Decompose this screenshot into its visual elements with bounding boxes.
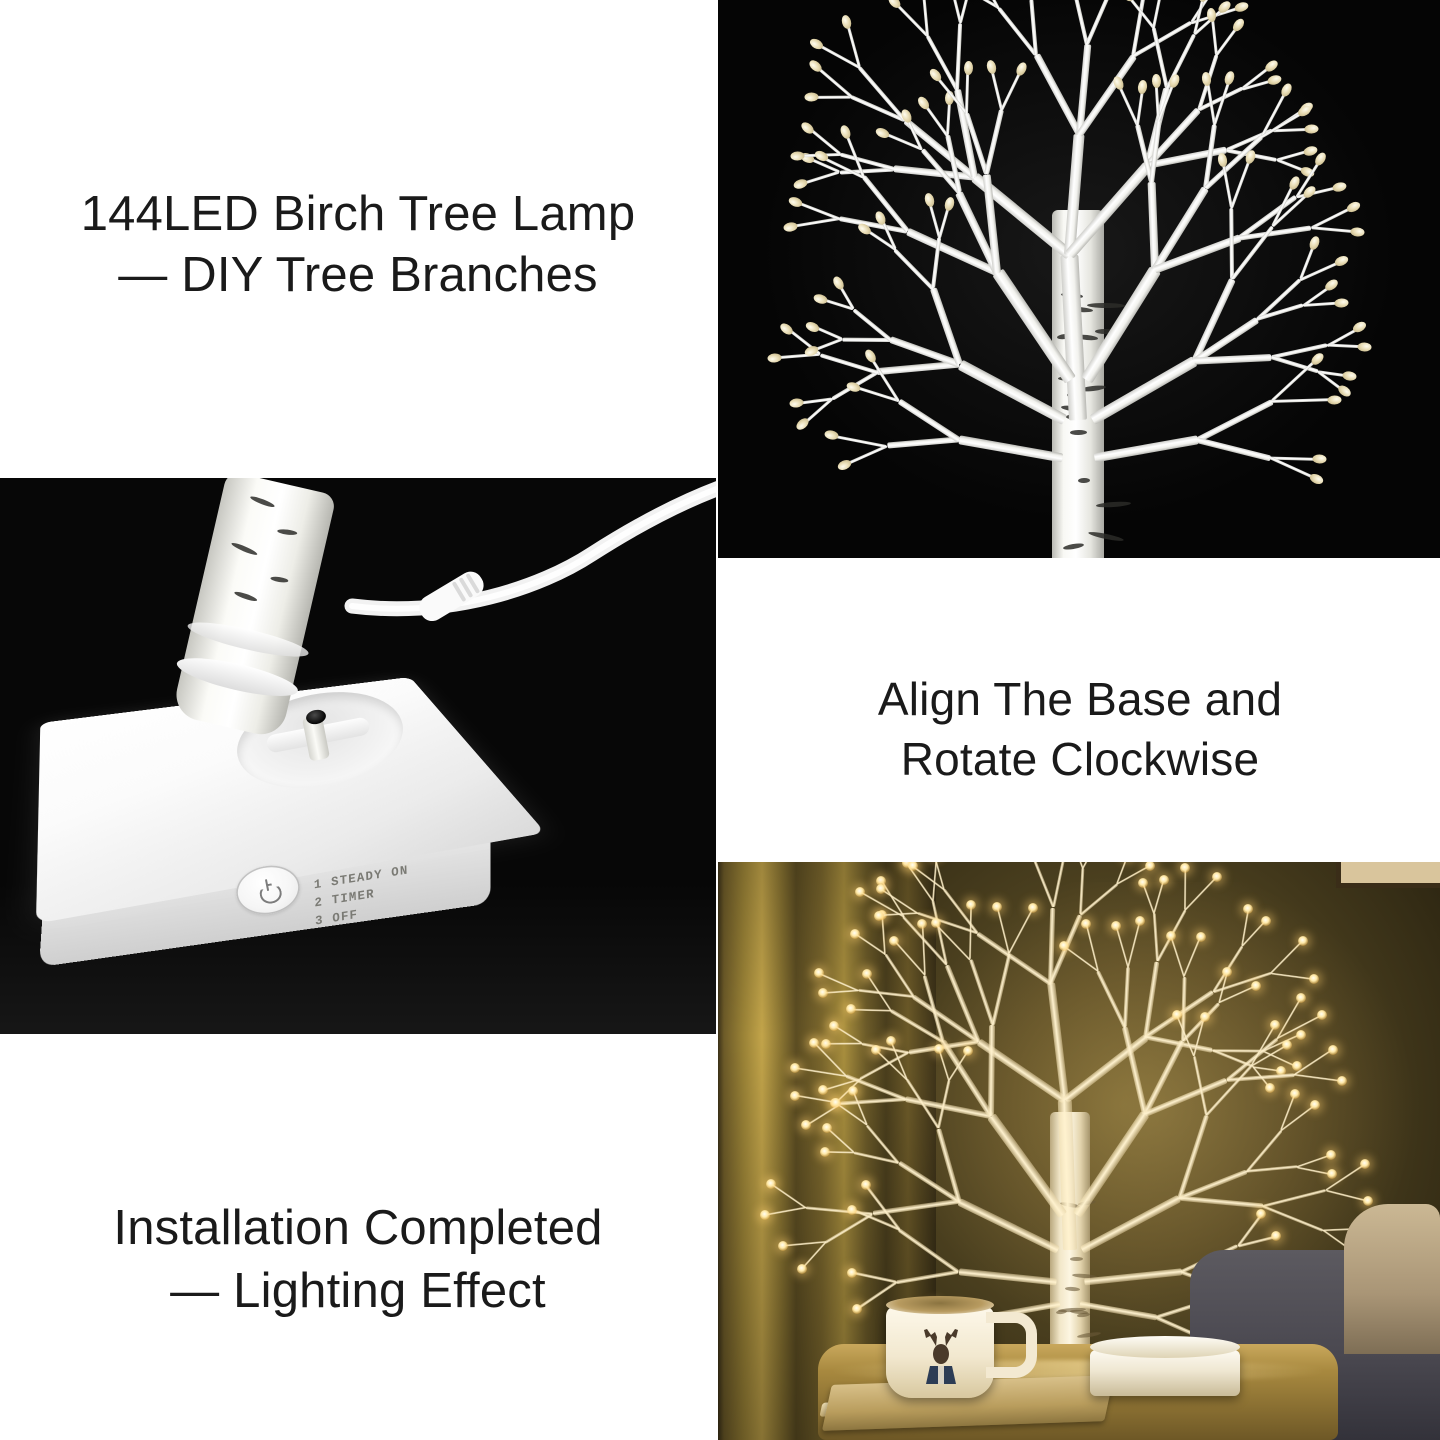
lit-led bbox=[1081, 919, 1091, 929]
led-bulb bbox=[1357, 342, 1371, 352]
trunk-collar-lower bbox=[174, 650, 301, 703]
caption-product-title-line1: 144LED Birch Tree Lamp bbox=[81, 184, 636, 245]
bark-mark bbox=[277, 528, 297, 535]
lit-led bbox=[1138, 878, 1148, 888]
lit-led bbox=[1337, 1076, 1347, 1086]
photo-room-scene bbox=[718, 862, 1440, 1440]
lit-led bbox=[814, 968, 824, 978]
caption-result-line2: — Lighting Effect bbox=[170, 1260, 546, 1323]
tree-twig bbox=[842, 337, 891, 342]
caption-result: Installation Completed — Lighting Effect bbox=[0, 1150, 716, 1370]
caption-assembly-step-line1: Align The Base and bbox=[878, 670, 1282, 730]
photo-tree-unlit bbox=[718, 0, 1440, 558]
lit-led bbox=[1296, 1030, 1306, 1040]
lit-led bbox=[1251, 981, 1261, 991]
caption-product-title: 144LED Birch Tree Lamp — DIY Tree Branch… bbox=[0, 130, 716, 360]
lit-led bbox=[1298, 936, 1308, 946]
lit-led bbox=[963, 1046, 973, 1056]
bark-mark bbox=[231, 541, 259, 557]
lit-led bbox=[1212, 872, 1222, 882]
bark-mark bbox=[1078, 478, 1090, 483]
lit-led bbox=[1282, 1040, 1292, 1050]
lit-led bbox=[1059, 941, 1069, 951]
lit-led bbox=[1270, 1020, 1280, 1030]
lit-led bbox=[797, 1264, 807, 1274]
lit-led bbox=[861, 1180, 871, 1190]
lit-led bbox=[874, 911, 884, 921]
lit-led bbox=[876, 884, 886, 894]
infographic-sheet: 144LED Birch Tree Lamp — DIY Tree Branch… bbox=[0, 0, 1440, 1440]
mug-rim bbox=[886, 1296, 994, 1314]
led-bulb bbox=[964, 61, 973, 75]
lit-led bbox=[1328, 1045, 1338, 1055]
lit-led bbox=[1200, 1012, 1210, 1022]
lit-led bbox=[871, 1045, 881, 1055]
trunk-collar-upper bbox=[185, 616, 310, 663]
lit-led bbox=[778, 1241, 788, 1251]
lit-led bbox=[889, 936, 899, 946]
lit-led bbox=[992, 902, 1002, 912]
lit-led bbox=[847, 1205, 857, 1215]
lit-led bbox=[1261, 916, 1271, 926]
lit-led bbox=[829, 1021, 839, 1031]
sofa-cushion bbox=[1344, 1204, 1440, 1354]
lit-led bbox=[1180, 863, 1190, 873]
lit-led bbox=[1327, 1169, 1337, 1179]
lit-led bbox=[1296, 993, 1306, 1003]
caption-assembly-step: Align The Base and Rotate Clockwise bbox=[720, 620, 1440, 840]
lit-led bbox=[908, 862, 918, 871]
lit-led bbox=[1196, 932, 1206, 942]
bark-mark bbox=[270, 576, 289, 584]
photo-lamp-base: 1 STEADY ON 2 TIMER 3 OFF bbox=[0, 478, 716, 1034]
bark-mark bbox=[249, 495, 275, 509]
caption-result-line1: Installation Completed bbox=[113, 1197, 602, 1260]
lit-led bbox=[1271, 1231, 1281, 1241]
lamp-base-top-in-room bbox=[1090, 1336, 1240, 1358]
lit-led bbox=[1159, 875, 1169, 885]
lamp-base-assembly: 1 STEADY ON 2 TIMER 3 OFF bbox=[18, 598, 538, 1018]
power-icon bbox=[255, 877, 281, 903]
lit-led bbox=[1363, 1196, 1373, 1206]
led-bulb bbox=[1304, 124, 1318, 134]
lit-led bbox=[847, 1268, 857, 1278]
caption-assembly-step-line2: Rotate Clockwise bbox=[901, 730, 1260, 790]
bark-mark bbox=[234, 590, 258, 603]
lit-led bbox=[1310, 1100, 1320, 1110]
lit-led bbox=[850, 929, 860, 939]
lit-led bbox=[821, 1039, 831, 1049]
lit-led bbox=[1145, 862, 1155, 871]
lit-led bbox=[809, 1038, 819, 1048]
mug-handle bbox=[986, 1312, 1037, 1378]
lit-led bbox=[1222, 967, 1232, 977]
caption-product-title-line2: — DIY Tree Branches bbox=[118, 245, 598, 306]
stag-print-icon bbox=[914, 1324, 968, 1384]
lit-led bbox=[820, 1147, 830, 1157]
